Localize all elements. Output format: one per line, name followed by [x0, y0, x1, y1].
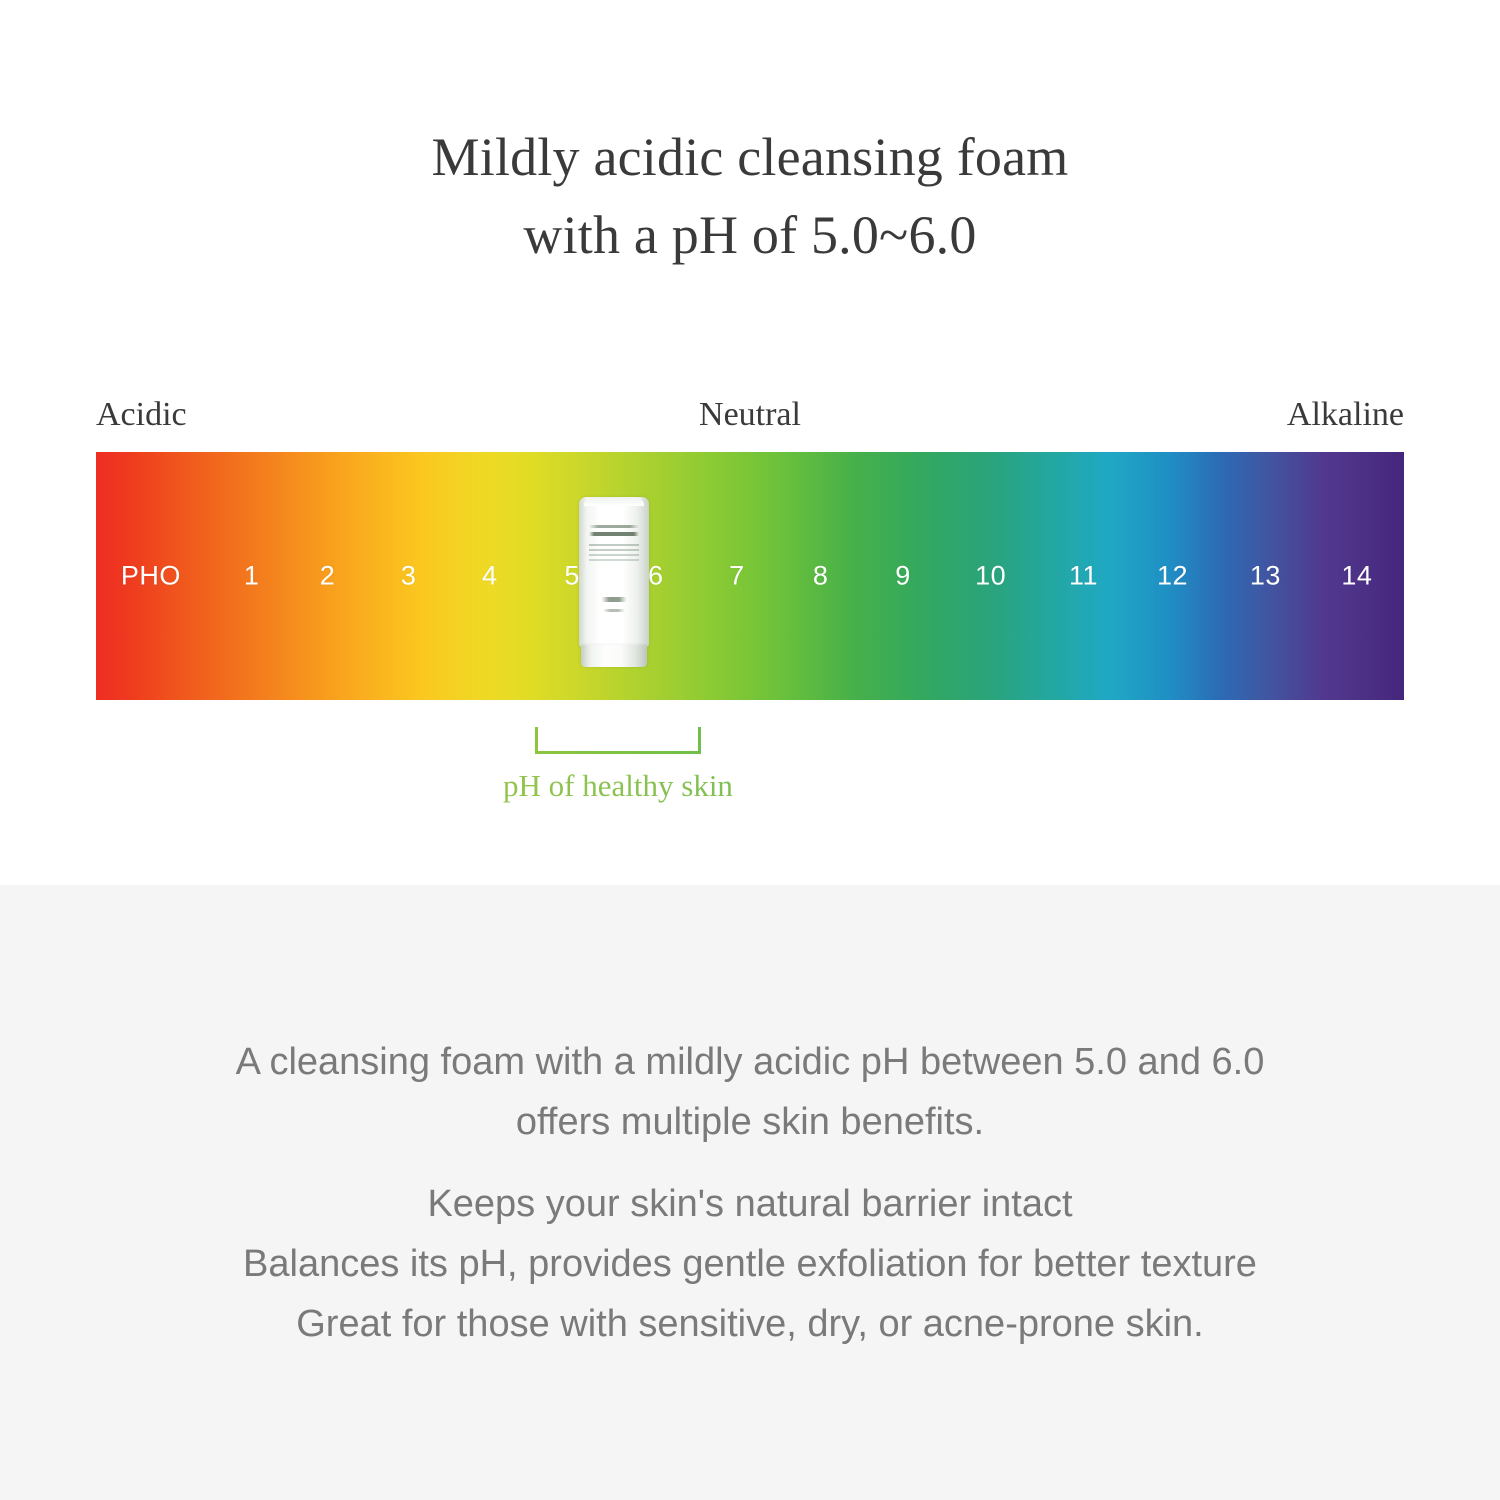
scale-label-neutral: Neutral	[699, 396, 801, 434]
ph-tick-1: 1	[244, 561, 260, 592]
ph-tick-10: 10	[975, 561, 1006, 592]
ph-tick-pho: PHO	[121, 561, 181, 592]
scale-label-acidic: Acidic	[96, 396, 187, 434]
healthy-skin-caption: pH of healthy skin	[0, 768, 1236, 804]
ph-tick-7: 7	[729, 561, 745, 592]
copy-p2-line1: Keeps your skin's natural barrier intact	[0, 1174, 1500, 1234]
copy-p1-line1: A cleansing foam with a mildly acidic pH…	[0, 1032, 1500, 1092]
tube-body-shape	[579, 497, 649, 647]
tube-brand-line	[589, 525, 639, 528]
tube-volume-line	[589, 609, 639, 612]
hero-section: Mildly acidic cleansing foam with a pH o…	[0, 0, 1500, 885]
ph-gradient-bar: PHO1234567891011121314	[96, 452, 1404, 700]
ph-scale-labels: Acidic Neutral Alkaline	[96, 396, 1404, 440]
tube-product-name-line	[589, 532, 639, 536]
ph-tick-13: 13	[1250, 561, 1281, 592]
tube-shoulder	[584, 497, 644, 506]
paragraph-spacer	[0, 1152, 1500, 1174]
tube-description-lines	[589, 544, 639, 566]
ph-tick-8: 8	[813, 561, 829, 592]
ph-tick-12: 12	[1157, 561, 1188, 592]
copy-p2-line2: Balances its pH, provides gentle exfolia…	[0, 1234, 1500, 1294]
page-title: Mildly acidic cleansing foam with a pH o…	[0, 118, 1500, 274]
ph-tick-2: 2	[320, 561, 336, 592]
copy-p1-line2: offers multiple skin benefits.	[0, 1092, 1500, 1152]
ph-tick-5: 5	[564, 561, 580, 592]
ph-tick-6: 6	[648, 561, 664, 592]
ph-tick-14: 14	[1341, 561, 1372, 592]
scale-label-alkaline: Alkaline	[1287, 396, 1404, 434]
healthy-skin-bracket	[535, 727, 701, 754]
tube-logo-mark	[589, 597, 639, 602]
ph-tick-11: 11	[1069, 561, 1098, 592]
tube-cap	[581, 645, 647, 667]
page-title-line-2: with a pH of 5.0~6.0	[0, 196, 1500, 274]
benefits-copy: A cleansing foam with a mildly acidic pH…	[0, 1032, 1500, 1354]
ph-tick-4: 4	[482, 561, 498, 592]
ph-tick-9: 9	[895, 561, 911, 592]
ph-tick-3: 3	[401, 561, 417, 592]
product-tube	[579, 497, 649, 667]
copy-p2-line3: Great for those with sensitive, dry, or …	[0, 1294, 1500, 1354]
page-title-line-1: Mildly acidic cleansing foam	[0, 118, 1500, 196]
